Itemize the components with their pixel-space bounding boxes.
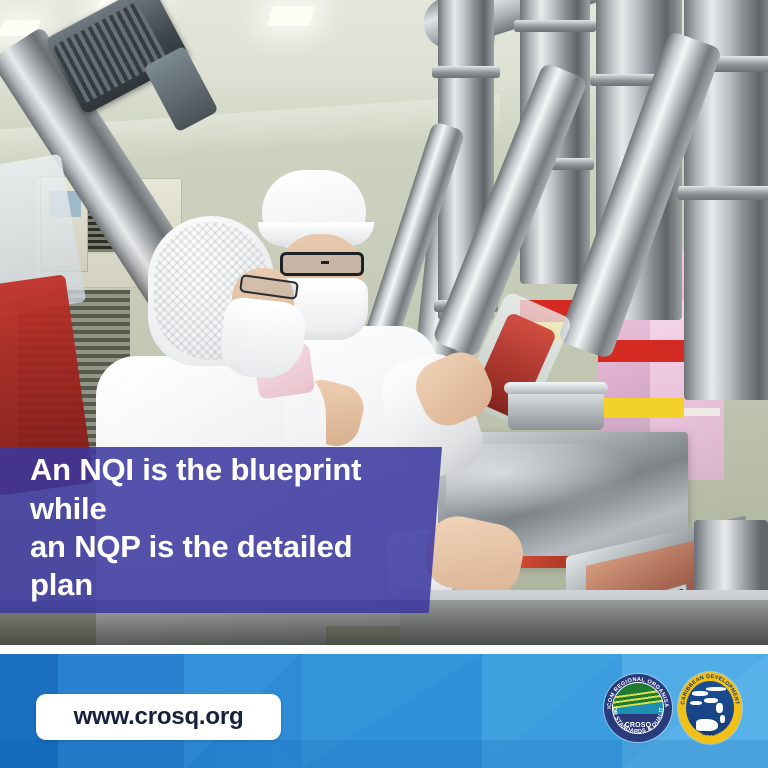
cdb-ring-bottom-text: BANK (701, 731, 719, 738)
cdb-ring-top-text: CARIBBEAN DEVELOPMENT (680, 674, 740, 706)
message-line-1: An NQI is the blueprint while (30, 451, 416, 528)
svg-text:CARICOM REGIONAL ORGANISATION: CARICOM REGIONAL ORGANISATION (604, 674, 669, 709)
crosq-ring-top-text: CARICOM REGIONAL ORGANISATION (604, 674, 669, 709)
message-banner-text: An NQI is the blueprint while an NQP is … (0, 451, 442, 609)
website-url-label: www.crosq.org (74, 703, 244, 731)
logo-group: CROSQ CARICOM REGIONAL ORGANISATION FOR … (604, 672, 742, 744)
pipe-clamp (678, 186, 768, 200)
cdb-ring-text: CARIBBEAN DEVELOPMENT BANK (678, 672, 742, 744)
caribbean-development-bank-logo[interactable]: CARIBBEAN DEVELOPMENT BANK (678, 672, 742, 744)
message-banner: An NQI is the blueprint while an NQP is … (0, 447, 442, 613)
message-line-2: an NQP is the detailed plan (30, 528, 416, 605)
crosq-ring-text: CARICOM REGIONAL ORGANISATION FOR STANDA… (604, 674, 672, 742)
warning-band-yellow (598, 398, 684, 418)
svg-text:CARIBBEAN DEVELOPMENT: CARIBBEAN DEVELOPMENT (680, 674, 740, 706)
worker-back-glasses (280, 252, 364, 276)
svg-text:BANK: BANK (701, 731, 719, 738)
ceiling-light-icon (267, 6, 315, 26)
website-url-button[interactable]: www.crosq.org (36, 694, 281, 740)
machine-bowl-rim (504, 382, 608, 394)
white-divider (0, 645, 768, 654)
crosq-logo[interactable]: CROSQ CARICOM REGIONAL ORGANISATION FOR … (604, 674, 672, 742)
pipe-clamp (432, 66, 500, 78)
footer-facet-bottom (0, 740, 768, 768)
social-media-graphic: An NQI is the blueprint while an NQP is … (0, 0, 768, 768)
pipe-clamp (514, 20, 596, 32)
